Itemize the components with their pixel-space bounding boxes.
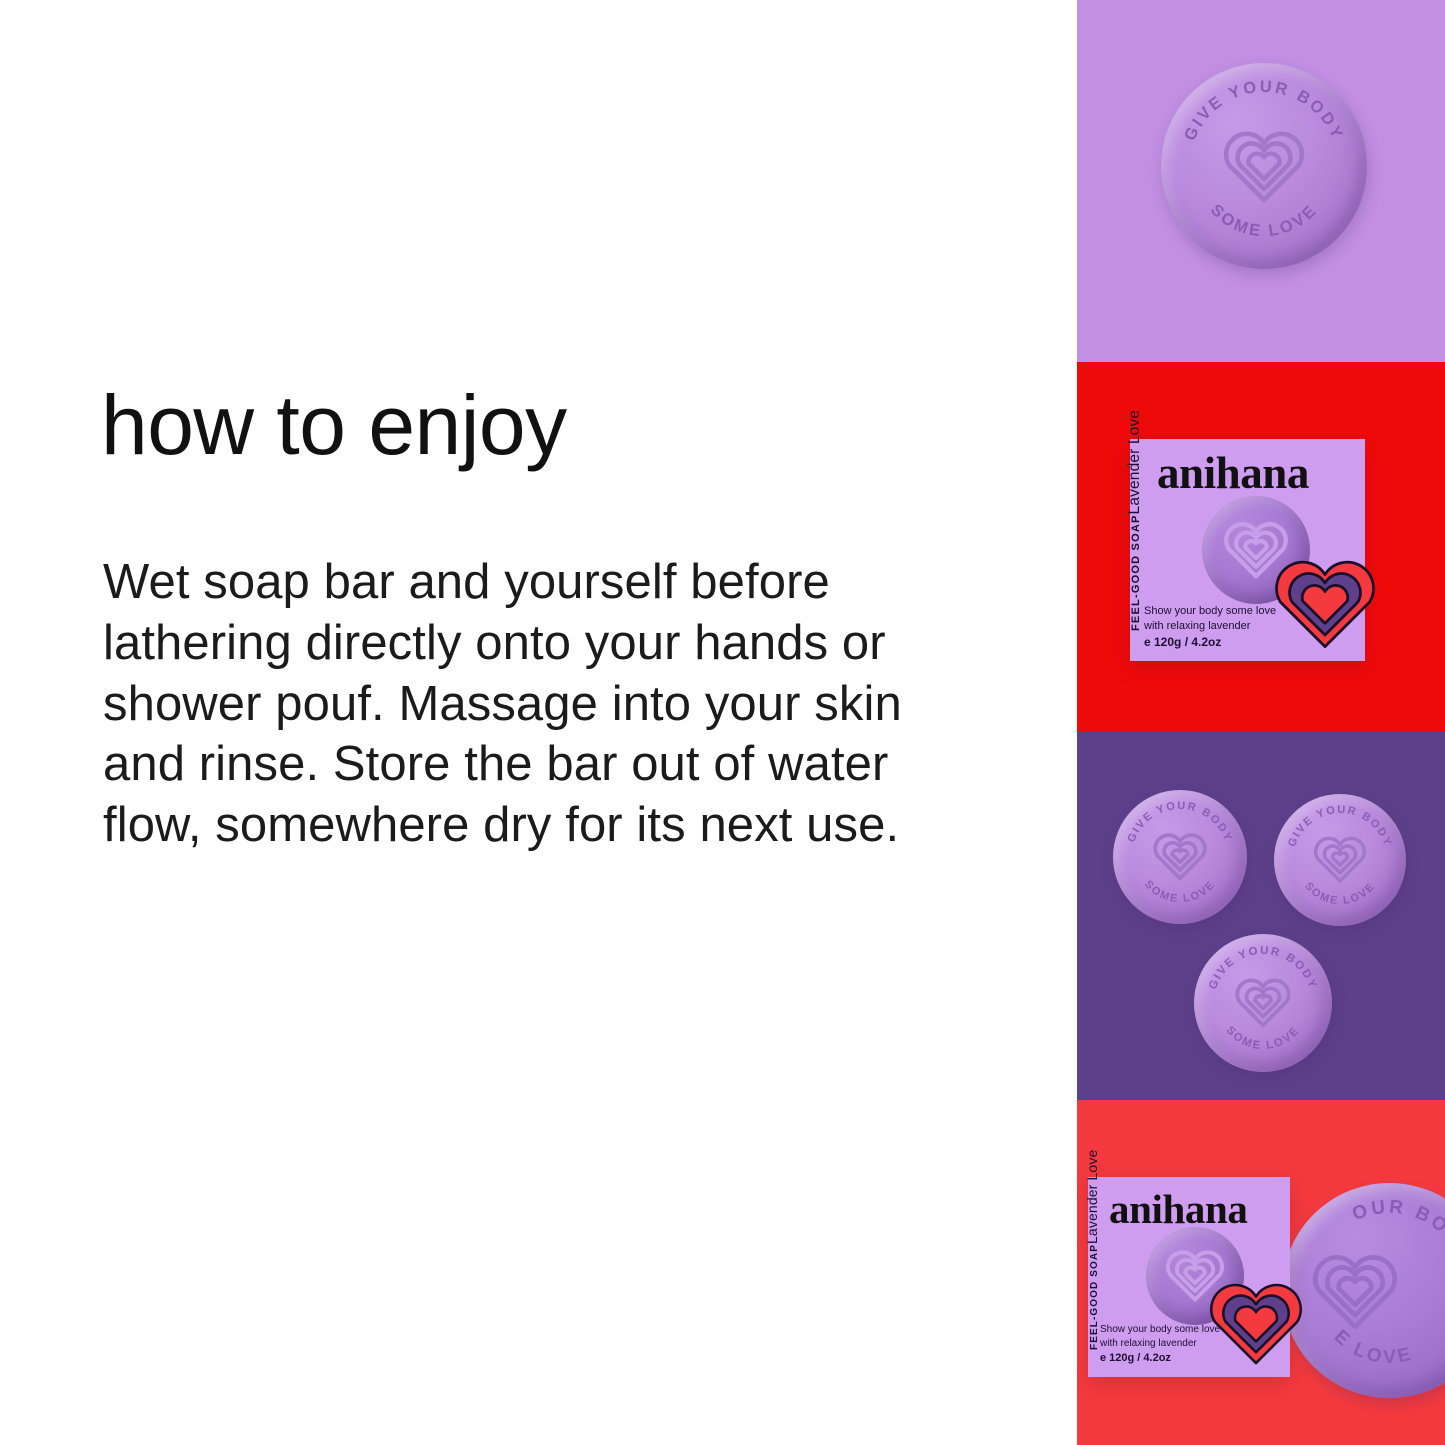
product-kicker: FEEL-GOOD SOAP (1089, 1244, 1100, 1350)
brand-logo: anihana (1109, 1185, 1247, 1233)
product-type-and-flavour: FEEL-GOOD SOAP Lavender Love (1126, 410, 1144, 631)
page-title: how to enjoy (101, 383, 567, 467)
panel-three-soaps: GIVE YOUR BODY SOME LOVE (1077, 732, 1445, 1100)
copy-column: how to enjoy Wet soap bar and yourself b… (0, 0, 1077, 1445)
concentric-heart-graphic (1207, 1275, 1305, 1365)
panel-single-soap: GIVE YOUR BODY SOME LOVE (1077, 0, 1445, 362)
heart-emboss-icon (1232, 972, 1294, 1034)
net-weight-label: e 120g / 4.2oz (1144, 635, 1221, 649)
product-blurb: Show your body some love with relaxing l… (1144, 604, 1276, 634)
heart-emboss-icon (1311, 831, 1370, 890)
product-kicker: FEEL-GOOD SOAP (1130, 514, 1142, 631)
heart-emboss-icon (1218, 122, 1310, 211)
net-weight-label: e 120g / 4.2oz (1100, 1352, 1171, 1364)
soap-bar: GIVE YOUR BODY SOME LOVE (1161, 63, 1367, 269)
instructions-paragraph: Wet soap bar and yourself before latheri… (103, 552, 973, 856)
product-detail-image: how to enjoy Wet soap bar and yourself b… (0, 0, 1445, 1445)
soap-bar: GIVE YOUR BODY SOME LOVE (1274, 794, 1406, 926)
soap-package-box: anihana FEEL-GOOD SOAP Lavender Love (1088, 1177, 1290, 1377)
brand-logo: anihana (1157, 447, 1309, 499)
soap-bar: GIVE YOUR BODY SOME LOVE (1113, 790, 1247, 924)
soap-package-box: anihana FEEL-GOOD SOAP Lavender Love (1130, 439, 1365, 661)
product-blurb: Show your body some love with relaxing l… (1100, 1323, 1220, 1351)
concentric-heart-graphic (1272, 551, 1378, 649)
heart-emboss-icon (1150, 827, 1210, 887)
panel-package-with-soap: OUR BODY E LOVE (1077, 1100, 1445, 1445)
product-flavour: Lavender Love (1126, 410, 1144, 515)
soap-bar: GIVE YOUR BODY SOME LOVE (1194, 934, 1332, 1072)
heart-emboss-icon (1307, 1244, 1403, 1337)
product-type-and-flavour: FEEL-GOOD SOAP Lavender Love (1084, 1150, 1100, 1350)
soap-bar-large: OUR BODY E LOVE (1282, 1183, 1445, 1398)
product-image-strip: GIVE YOUR BODY SOME LOVE (1077, 0, 1445, 1445)
product-flavour: Lavender Love (1084, 1150, 1100, 1244)
panel-package-box: anihana FEEL-GOOD SOAP Lavender Love (1077, 362, 1445, 732)
